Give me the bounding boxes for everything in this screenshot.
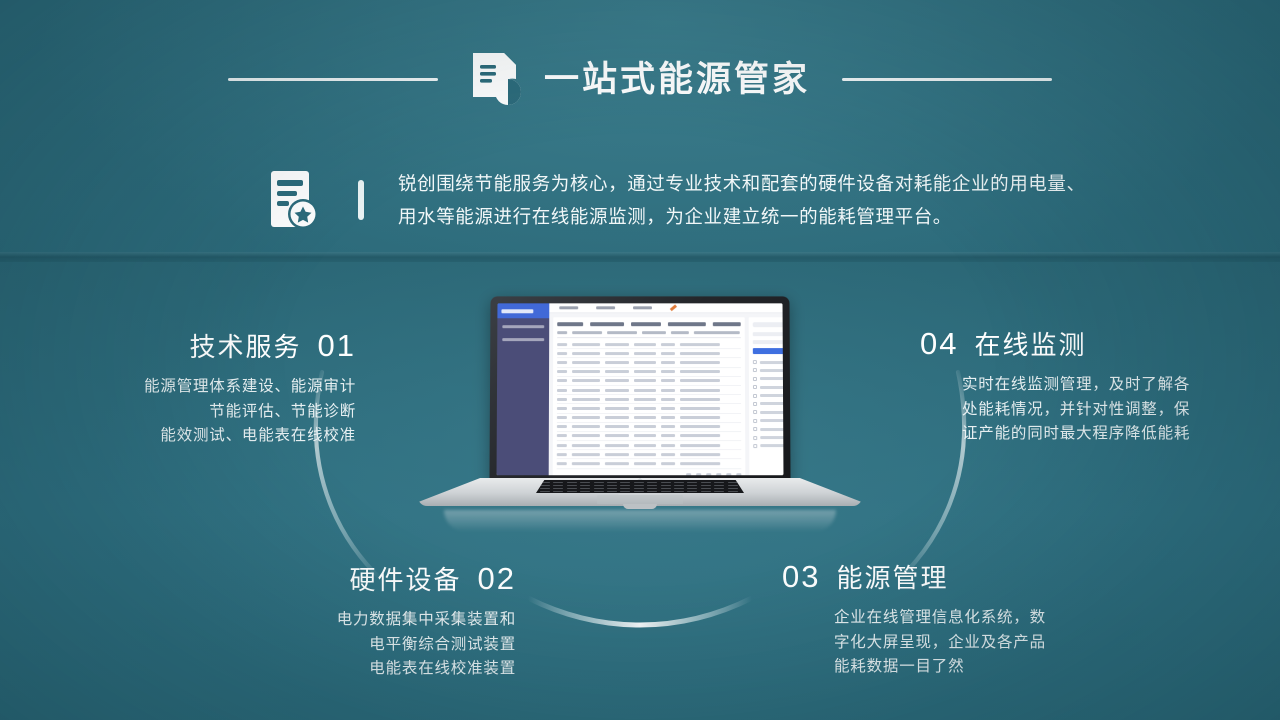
table-row[interactable] [557, 460, 742, 469]
feature-03-title: 能源管理 [836, 558, 948, 595]
document-star-icon [268, 169, 326, 231]
feature-02-line-3: 电能表在线校准装置 [196, 657, 516, 682]
panel-checkbox-list[interactable] [753, 360, 784, 448]
feature-02-title: 硬件设备 [350, 560, 462, 597]
table-row[interactable] [557, 414, 741, 423]
table-row[interactable] [557, 358, 741, 367]
laptop-trackpad [597, 495, 683, 504]
table-row[interactable] [557, 377, 741, 386]
table-row[interactable] [557, 441, 741, 450]
feature-01-line-3: 能效测试、电能表在线校准 [24, 424, 356, 449]
intro-text-line-1: 锐创围绕节能服务为核心，通过专业技术和配套的硬件设备对耗能企业的用电量、 [398, 167, 1086, 200]
feature-01-title: 技术服务 [190, 327, 302, 364]
table-row[interactable] [557, 386, 741, 395]
feature-04-title: 在线监测 [974, 325, 1086, 362]
panel-checkbox-item[interactable] [753, 402, 783, 406]
feature-block-03: 03 能源管理 企业在线管理信息化系统，数 字化大屏呈现，企业及各产品 能耗数据… [782, 558, 1112, 680]
panel-checkbox-item[interactable] [753, 377, 784, 381]
table-pagination[interactable] [557, 469, 742, 475]
table-rows[interactable] [557, 340, 742, 469]
intro-band: 锐创围绕节能服务为核心，通过专业技术和配套的硬件设备对耗能企业的用电量、 用水等… [268, 160, 1228, 240]
feature-04-line-2: 处能耗情况，并针对性调整，保 [962, 398, 1260, 423]
dashboard-data-table[interactable] [553, 317, 746, 475]
intro-text: 锐创围绕节能服务为核心，通过专业技术和配套的硬件设备对耗能企业的用电量、 用水等… [398, 167, 1086, 233]
feature-04-line-3: 证产能的同时最大程序降低能耗 [962, 422, 1260, 447]
page-title: 一站式能源管家 [544, 62, 810, 97]
panel-checkbox-item[interactable] [753, 385, 783, 389]
laptop-lid [489, 296, 790, 484]
table-row[interactable] [557, 349, 741, 358]
dashboard-main [549, 303, 784, 475]
intro-text-line-2: 用水等能源进行在线能源监测，为企业建立统一的能耗管理平台。 [398, 200, 1086, 233]
header-rule-left [228, 78, 438, 81]
table-row[interactable] [557, 368, 741, 377]
laptop-reflection [444, 510, 836, 532]
panel-checkbox-item[interactable] [753, 427, 783, 431]
panel-search[interactable] [753, 322, 784, 327]
dashboard-filter-tabs[interactable] [557, 322, 741, 326]
panel-checkbox-item[interactable] [753, 436, 783, 440]
feature-block-04: 04 在线监测 实时在线监测管理，及时了解各 处能耗情况，并针对性调整，保 证产… [920, 325, 1260, 447]
laptop-device-mockup [418, 296, 862, 528]
feature-02-line-1: 电力数据集中采集装置和 [196, 608, 516, 633]
panel-checkbox-item[interactable] [753, 410, 783, 414]
panel-checkbox-item[interactable] [753, 368, 784, 372]
table-row[interactable] [557, 395, 741, 404]
header-rule-right [842, 78, 1052, 81]
feature-04-line-1: 实时在线监测管理，及时了解各 [962, 373, 1260, 398]
feature-02-line-2: 电平衡综合测试装置 [196, 633, 516, 658]
panel-select-2[interactable] [753, 340, 784, 344]
feature-02-number: 02 [478, 561, 516, 597]
feature-01-line-1: 能源管理体系建设、能源审计 [24, 375, 356, 400]
feature-04-head: 04 在线监测 [920, 325, 1260, 362]
feature-04-number: 04 [920, 326, 958, 362]
feature-03-line-2: 字化大屏呈现，企业及各产品 [834, 631, 1112, 656]
edit-pencil-icon[interactable] [670, 304, 677, 311]
header: 一站式能源管家 [0, 44, 1280, 114]
dashboard-body [549, 313, 784, 475]
laptop-front-notch [623, 504, 657, 509]
table-row[interactable] [557, 432, 741, 441]
panel-checkbox-item[interactable] [753, 360, 784, 364]
intro-divider-bar [358, 180, 364, 220]
panel-checkbox-item[interactable] [753, 394, 783, 398]
document-chart-icon [470, 51, 524, 107]
feature-03-head: 03 能源管理 [782, 558, 1112, 595]
dashboard-side-panel[interactable] [749, 317, 784, 475]
panel-checkbox-item[interactable] [753, 419, 783, 423]
panel-primary-button[interactable] [753, 348, 784, 354]
feature-01-line-2: 节能评估、节能诊断 [24, 400, 356, 425]
feature-block-01: 技术服务 01 能源管理体系建设、能源审计 节能评估、节能诊断 能效测试、电能表… [24, 327, 356, 449]
laptop-base [418, 478, 862, 512]
feature-03-line-1: 企业在线管理信息化系统，数 [834, 606, 1112, 631]
dashboard-screenshot [497, 303, 784, 475]
feature-01-number: 01 [318, 328, 356, 364]
table-row[interactable] [557, 450, 741, 459]
feature-04-body: 实时在线监测管理，及时了解各 处能耗情况，并针对性调整，保 证产能的同时最大程序… [920, 373, 1260, 447]
feature-02-head: 硬件设备 02 [196, 560, 516, 597]
dashboard-logo [497, 303, 549, 318]
table-row[interactable] [557, 404, 741, 413]
feature-01-head: 技术服务 01 [24, 327, 356, 364]
dashboard-sidebar[interactable] [497, 303, 550, 475]
feature-01-body: 能源管理体系建设、能源审计 节能评估、节能诊断 能效测试、电能表在线校准 [24, 375, 356, 449]
feature-03-number: 03 [782, 559, 820, 595]
table-row[interactable] [557, 423, 741, 432]
laptop-keyboard [536, 480, 744, 493]
feature-03-line-3: 能耗数据一目了然 [834, 655, 1112, 680]
feature-02-body: 电力数据集中采集装置和 电平衡综合测试装置 电能表在线校准装置 [196, 608, 516, 682]
slide-root: 一站式能源管家 锐创围绕节能服务为核心，通过专业技术和配套的硬件设备对耗能企业的… [0, 0, 1280, 720]
dashboard-topbar[interactable] [549, 303, 783, 313]
feature-03-body: 企业在线管理信息化系统，数 字化大屏呈现，企业及各产品 能耗数据一目了然 [782, 606, 1112, 680]
dashboard-nav[interactable] [497, 318, 549, 341]
table-row[interactable] [557, 340, 741, 349]
feature-block-02: 硬件设备 02 电力数据集中采集装置和 电平衡综合测试装置 电能表在线校准装置 [196, 560, 516, 682]
table-header-row [557, 331, 741, 338]
panel-checkbox-item[interactable] [753, 444, 783, 448]
panel-select-1[interactable] [753, 332, 784, 336]
